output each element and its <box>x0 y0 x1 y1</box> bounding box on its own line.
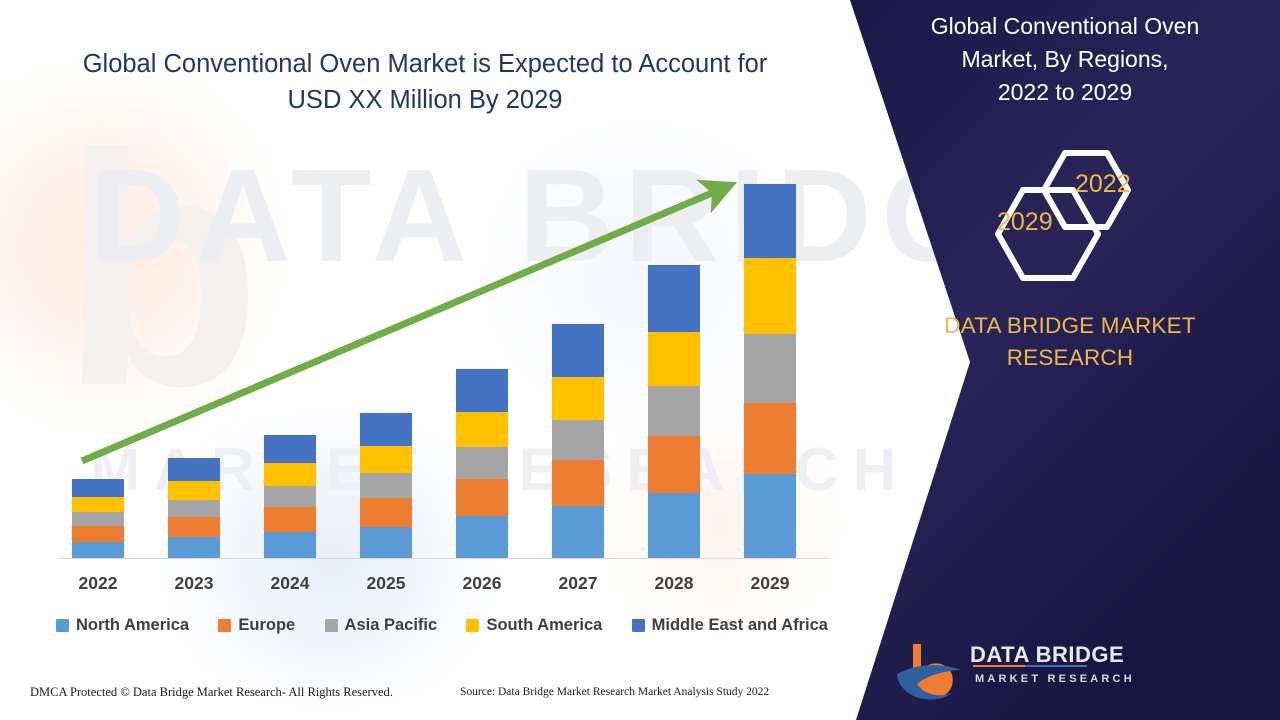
legend-item-south-america[interactable]: South America <box>466 616 602 635</box>
bar-segment-north-america <box>552 506 604 558</box>
bar-segment-asia-pacific <box>456 447 508 479</box>
bar-2024 <box>264 435 316 558</box>
x-axis-label-2027: 2027 <box>533 573 623 594</box>
bar-segment-europe <box>552 460 604 506</box>
bar-segment-asia-pacific <box>168 500 220 517</box>
bar-segment-middle-east-and-africa <box>264 435 316 463</box>
bar-segment-south-america <box>456 412 508 447</box>
x-axis-line <box>58 558 830 559</box>
bar-segment-europe <box>648 436 700 493</box>
panel-title-line-2: Market, By Regions, <box>865 43 1265 76</box>
bar-segment-asia-pacific <box>264 486 316 507</box>
legend-label: South America <box>486 616 602 635</box>
chart-legend: North AmericaEuropeAsia PacificSouth Ame… <box>56 616 828 635</box>
bar-segment-south-america <box>744 258 796 334</box>
logo-text-secondary: MARKET RESEARCH <box>975 673 1135 685</box>
legend-swatch-icon <box>218 619 231 632</box>
bar-segment-europe <box>456 479 508 516</box>
legend-label: Europe <box>238 616 295 635</box>
bar-segment-south-america <box>552 377 604 420</box>
bar-segment-europe <box>72 526 124 542</box>
bar-segment-asia-pacific <box>648 386 700 436</box>
hexagon-2022-label: 2022 <box>1075 170 1131 199</box>
bar-segment-middle-east-and-africa <box>744 184 796 258</box>
bar-2027 <box>552 324 604 558</box>
hexagon-2029-label: 2029 <box>997 208 1053 237</box>
page-title: Global Conventional Oven Market is Expec… <box>60 46 790 118</box>
bar-segment-middle-east-and-africa <box>168 458 220 481</box>
bar-segment-south-america <box>360 446 412 473</box>
bar-segment-north-america <box>72 542 124 558</box>
bar-segment-south-america <box>264 463 316 486</box>
bar-segment-middle-east-and-africa <box>72 479 124 497</box>
x-axis-label-2022: 2022 <box>53 573 143 594</box>
x-axis-label-2023: 2023 <box>149 573 239 594</box>
bar-2026 <box>456 369 508 558</box>
bar-segment-north-america <box>456 516 508 558</box>
legend-item-europe[interactable]: Europe <box>218 616 295 635</box>
hexagon-badges: 2022 2029 <box>985 148 1185 288</box>
company-logo: DATA BRIDGE MARKET RESEARCH <box>895 640 1145 702</box>
bar-segment-asia-pacific <box>360 473 412 498</box>
bar-segment-europe <box>360 498 412 527</box>
brand-name-gold: DATA BRIDGE MARKET RESEARCH <box>870 310 1270 374</box>
bar-segment-middle-east-and-africa <box>648 265 700 332</box>
panel-title-line-3: 2022 to 2029 <box>865 76 1265 109</box>
bar-2022 <box>72 479 124 558</box>
legend-label: North America <box>76 616 189 635</box>
brand-name-line-1: DATA BRIDGE MARKET <box>870 310 1270 342</box>
panel-title-line-1: Global Conventional Oven <box>865 10 1265 43</box>
source-text: Source: Data Bridge Market Research Mark… <box>460 686 769 698</box>
bar-segment-asia-pacific <box>744 334 796 403</box>
x-axis-label-2028: 2028 <box>629 573 719 594</box>
bar-segment-north-america <box>168 537 220 558</box>
bar-segment-europe <box>744 403 796 474</box>
bar-segment-north-america <box>264 532 316 558</box>
bar-segment-asia-pacific <box>72 512 124 526</box>
bar-segment-north-america <box>360 527 412 558</box>
bar-segment-south-america <box>648 332 700 386</box>
legend-label: Middle East and Africa <box>652 616 828 635</box>
legend-swatch-icon <box>56 619 69 632</box>
legend-swatch-icon <box>632 619 645 632</box>
x-axis-label-2024: 2024 <box>245 573 335 594</box>
bar-2025 <box>360 413 412 558</box>
legend-label: Asia Pacific <box>345 616 438 635</box>
bar-segment-middle-east-and-africa <box>360 413 412 446</box>
bar-2029 <box>744 184 796 558</box>
bar-segment-north-america <box>648 493 700 558</box>
bar-segment-europe <box>264 507 316 532</box>
x-axis-label-2026: 2026 <box>437 573 527 594</box>
brand-name-line-2: RESEARCH <box>870 342 1270 374</box>
bar-segment-middle-east-and-africa <box>552 324 604 377</box>
bar-segment-middle-east-and-africa <box>456 369 508 412</box>
bar-segment-europe <box>168 517 220 537</box>
legend-item-north-america[interactable]: North America <box>56 616 189 635</box>
bar-segment-north-america <box>744 474 796 558</box>
legend-swatch-icon <box>466 619 479 632</box>
infographic-canvas: b DATA BRIDGE MARKET RESEARCH 2022202320… <box>0 0 1280 720</box>
legend-swatch-icon <box>325 619 338 632</box>
legend-item-middle-east-and-africa[interactable]: Middle East and Africa <box>632 616 828 635</box>
bar-segment-asia-pacific <box>552 420 604 460</box>
x-axis-label-2029: 2029 <box>725 573 815 594</box>
logo-text-primary: DATA BRIDGE <box>970 642 1124 668</box>
bar-segment-south-america <box>168 481 220 500</box>
x-axis-label-2025: 2025 <box>341 573 431 594</box>
bar-2028 <box>648 265 700 558</box>
legend-item-asia-pacific[interactable]: Asia Pacific <box>325 616 438 635</box>
bar-2023 <box>168 458 220 558</box>
copyright-text: DMCA Protected © Data Bridge Market Rese… <box>30 685 393 700</box>
panel-title: Global Conventional Oven Market, By Regi… <box>850 10 1280 109</box>
bar-segment-south-america <box>72 497 124 512</box>
